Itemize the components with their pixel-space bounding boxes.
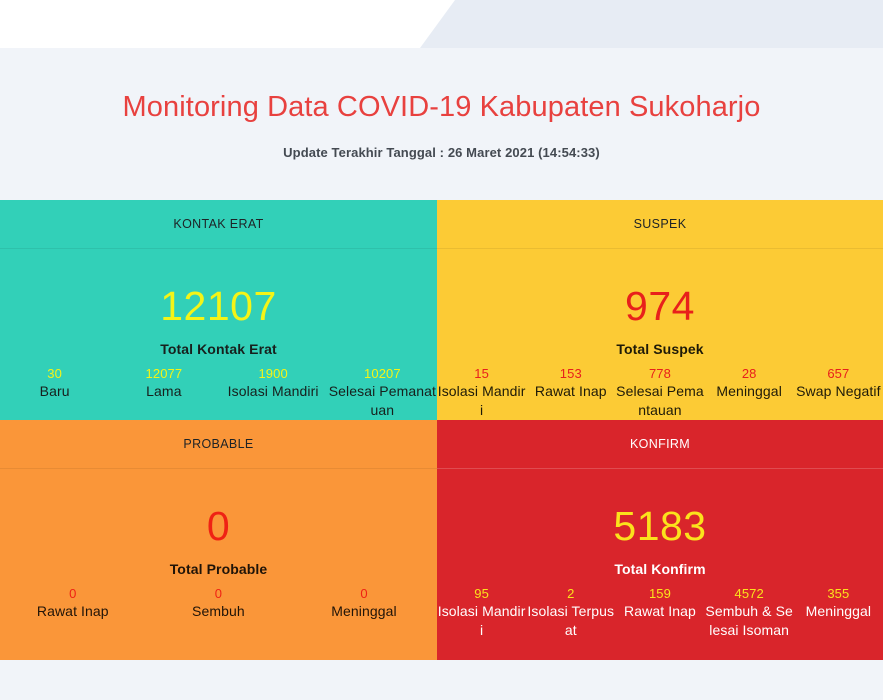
panel-suspek-total-label: Total Suspek [437,341,883,357]
substat-item: 4572 Sembuh & Selesai Isoman [705,586,794,640]
substat-value: 657 [794,366,883,382]
substat-value: 28 [705,366,794,382]
substat-value: 95 [437,586,526,602]
panel-suspek-total-value: 974 [437,249,883,327]
panel-konfirm[interactable]: KONFIRM 5183 Total Konfirm 95 Isolasi Ma… [437,420,883,660]
substat-label: Isolasi Mandiri [219,382,328,401]
panel-kontak-erat-substats: 30 Baru 12077 Lama 1900 Isolasi Mandiri … [0,366,437,420]
substat-item: 2 Isolasi Terpusat [526,586,615,640]
dashboard-page: Monitoring Data COVID-19 Kabupaten Sukoh… [0,0,883,700]
substat-label: Meninggal [291,602,437,621]
panel-suspek-substats: 15 Isolasi Mandiri 153 Rawat Inap 778 Se… [437,366,883,420]
panel-kontak-erat[interactable]: KONTAK ERAT 12107 Total Kontak Erat 30 B… [0,200,437,420]
panel-kontak-erat-body: 12107 Total Kontak Erat 30 Baru 12077 La… [0,249,437,420]
substat-item: 778 Selesai Pemantauan [615,366,704,420]
substat-item: 159 Rawat Inap [615,586,704,640]
last-update-text: Update Terakhir Tanggal : 26 Maret 2021 … [0,145,883,160]
panel-konfirm-header: KONFIRM [437,420,883,469]
substat-item: 0 Meninggal [291,586,437,621]
panel-konfirm-total-label: Total Konfirm [437,561,883,577]
substat-label: Isolasi Mandiri [437,382,526,420]
substat-value: 0 [0,586,146,602]
substat-item: 95 Isolasi Mandiri [437,586,526,640]
substat-label: Rawat Inap [0,602,146,621]
top-diagonal-band [0,0,883,48]
substat-item: 30 Baru [0,366,109,420]
substat-value: 4572 [705,586,794,602]
substat-value: 355 [794,586,883,602]
substat-label: Meninggal [794,602,883,621]
substat-item: 28 Meninggal [705,366,794,420]
panel-probable-substats: 0 Rawat Inap 0 Sembuh 0 Meninggal [0,586,437,621]
substat-value: 30 [0,366,109,382]
panel-suspek-body: 974 Total Suspek 15 Isolasi Mandiri 153 … [437,249,883,420]
substat-value: 10207 [328,366,437,382]
substat-value: 778 [615,366,704,382]
stats-grid: KONTAK ERAT 12107 Total Kontak Erat 30 B… [0,200,883,660]
panel-probable[interactable]: PROBABLE 0 Total Probable 0 Rawat Inap 0… [0,420,437,660]
substat-value: 2 [526,586,615,602]
substat-label: Rawat Inap [615,602,704,621]
substat-label: Rawat Inap [526,382,615,401]
substat-label: Baru [0,382,109,401]
substat-value: 159 [615,586,704,602]
substat-label: Swap Negatif [794,382,883,401]
substat-label: Selesai Pemantauan [615,382,704,420]
substat-item: 355 Meninggal [794,586,883,640]
substat-label: Isolasi Mandiri [437,602,526,640]
top-white-wedge [0,0,883,48]
panel-suspek[interactable]: SUSPEK 974 Total Suspek 15 Isolasi Mandi… [437,200,883,420]
substat-label: Sembuh [146,602,292,621]
substat-item: 15 Isolasi Mandiri [437,366,526,420]
page-footer [0,660,883,700]
panel-kontak-erat-total-value: 12107 [0,249,437,327]
substat-label: Meninggal [705,382,794,401]
substat-item: 657 Swap Negatif [794,366,883,420]
substat-item: 1900 Isolasi Mandiri [219,366,328,420]
panel-suspek-header: SUSPEK [437,200,883,249]
panel-konfirm-body: 5183 Total Konfirm 95 Isolasi Mandiri 2 … [437,469,883,660]
substat-label: Sembuh & Selesai Isoman [705,602,794,640]
panel-kontak-erat-header: KONTAK ERAT [0,200,437,249]
panel-probable-body: 0 Total Probable 0 Rawat Inap 0 Sembuh 0… [0,469,437,660]
panel-probable-header: PROBABLE [0,420,437,469]
substat-item: 153 Rawat Inap [526,366,615,420]
panel-kontak-erat-total-label: Total Kontak Erat [0,341,437,357]
substat-item: 0 Rawat Inap [0,586,146,621]
page-title: Monitoring Data COVID-19 Kabupaten Sukoh… [0,91,883,124]
substat-value: 15 [437,366,526,382]
panel-probable-total-label: Total Probable [0,561,437,577]
substat-value: 12077 [109,366,218,382]
substat-label: Isolasi Terpusat [526,602,615,640]
panel-konfirm-total-value: 5183 [437,469,883,547]
substat-item: 0 Sembuh [146,586,292,621]
substat-value: 0 [146,586,292,602]
panel-konfirm-substats: 95 Isolasi Mandiri 2 Isolasi Terpusat 15… [437,586,883,640]
substat-label: Selesai Pemanatuan [328,382,437,420]
page-header: Monitoring Data COVID-19 Kabupaten Sukoh… [0,48,883,200]
substat-item: 10207 Selesai Pemanatuan [328,366,437,420]
panel-probable-total-value: 0 [0,469,437,547]
substat-value: 0 [291,586,437,602]
substat-label: Lama [109,382,218,401]
substat-value: 1900 [219,366,328,382]
substat-item: 12077 Lama [109,366,218,420]
substat-value: 153 [526,366,615,382]
